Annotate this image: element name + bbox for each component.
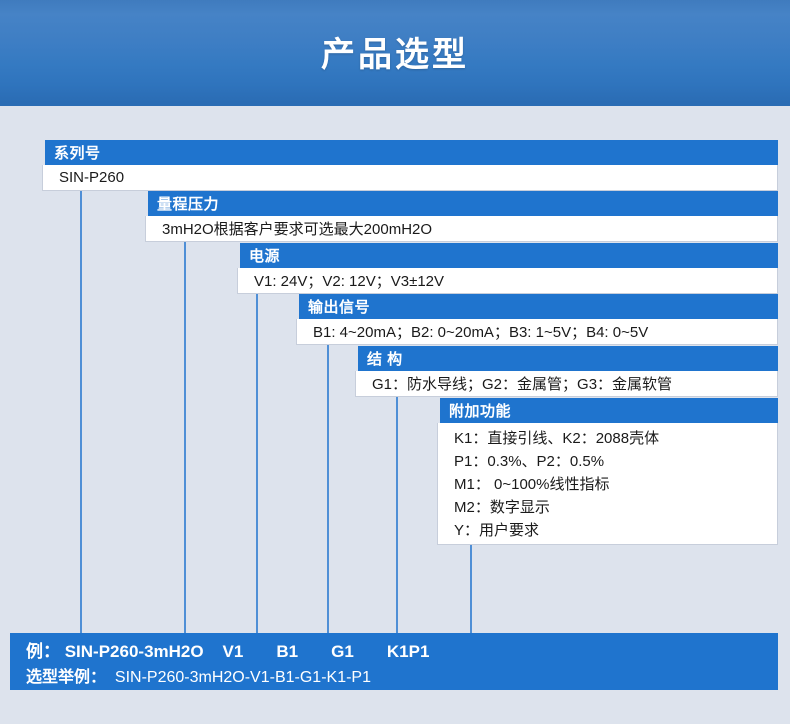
example-code-line: 例： SIN-P260-3mH2O V1 B1 G1 K1P1 <box>26 638 778 665</box>
tier-value-series: SIN-P260 <box>42 165 778 191</box>
example-block: 例： SIN-P260-3mH2O V1 B1 G1 K1P1 选型举例： SI… <box>10 633 778 690</box>
tier-value-structure: G1：防水导线；G2：金属管；G3：金属软管 <box>355 371 778 397</box>
page-title: 产品选型 <box>321 27 469 76</box>
extra-option-line: M1： 0~100%线性指标 <box>454 473 777 496</box>
tier-header-label: 系列号 <box>54 142 101 163</box>
tier-value-text: B1: 4~20mA；B2: 0~20mA；B3: 1~5V；B4: 0~5V <box>313 321 648 342</box>
page-banner: 产品选型 <box>0 0 790 103</box>
extra-option-line: K1：直接引线、K2：2088壳体 <box>454 427 777 450</box>
connector-line-power <box>256 276 258 633</box>
tier-header-structure: 结 构 <box>358 346 778 371</box>
connector-line-range <box>184 224 186 633</box>
connector-line-extra <box>470 545 472 633</box>
tier-value-output: B1: 4~20mA；B2: 0~20mA；B3: 1~5V；B4: 0~5V <box>296 319 778 345</box>
connector-line-series <box>80 173 82 633</box>
connector-line-output <box>327 327 329 633</box>
tier-value-power: V1: 24V；V2: 12V；V3±12V <box>237 268 778 294</box>
tier-value-text: SIN-P260 <box>59 169 124 186</box>
example-full-line: 选型举例： SIN-P260-3mH2O-V1-B1-G1-K1-P1 <box>26 665 778 691</box>
tier-header-label: 结 构 <box>367 348 403 369</box>
tier-header-label: 量程压力 <box>157 193 219 214</box>
product-selection-page: 产品选型 系列号 SIN-P260 量程压力 3mH2O根据客户要求可选最大20… <box>0 0 790 724</box>
extra-option-line: Y：用户要求 <box>454 519 777 542</box>
tier-value-extra: K1：直接引线、K2：2088壳体 P1：0.3%、P2：0.5% M1： 0~… <box>437 423 778 545</box>
extra-option-line: P1：0.3%、P2：0.5% <box>454 450 777 473</box>
tier-header-output: 输出信号 <box>299 294 778 319</box>
connector-line-structure <box>396 379 398 633</box>
tier-header-range: 量程压力 <box>148 191 778 216</box>
tier-header-series: 系列号 <box>45 140 778 165</box>
example-value: SIN-P260-3mH2O-V1-B1-G1-K1-P1 <box>106 669 371 686</box>
tier-header-power: 电源 <box>240 243 778 268</box>
tier-value-text: 3mH2O根据客户要求可选最大200mH2O <box>162 218 432 239</box>
banner-underline <box>0 103 790 106</box>
tier-value-range: 3mH2O根据客户要求可选最大200mH2O <box>145 216 778 242</box>
tier-value-text: G1：防水导线；G2：金属管；G3：金属软管 <box>372 373 672 394</box>
tier-header-label: 输出信号 <box>308 296 370 317</box>
tier-header-extra: 附加功能 <box>440 398 778 423</box>
tier-value-text: V1: 24V；V2: 12V；V3±12V <box>254 270 444 291</box>
tier-header-label: 附加功能 <box>449 400 511 421</box>
tier-header-label: 电源 <box>249 245 280 266</box>
example-label: 选型举例： <box>26 669 106 686</box>
extra-option-line: M2：数字显示 <box>454 496 777 519</box>
